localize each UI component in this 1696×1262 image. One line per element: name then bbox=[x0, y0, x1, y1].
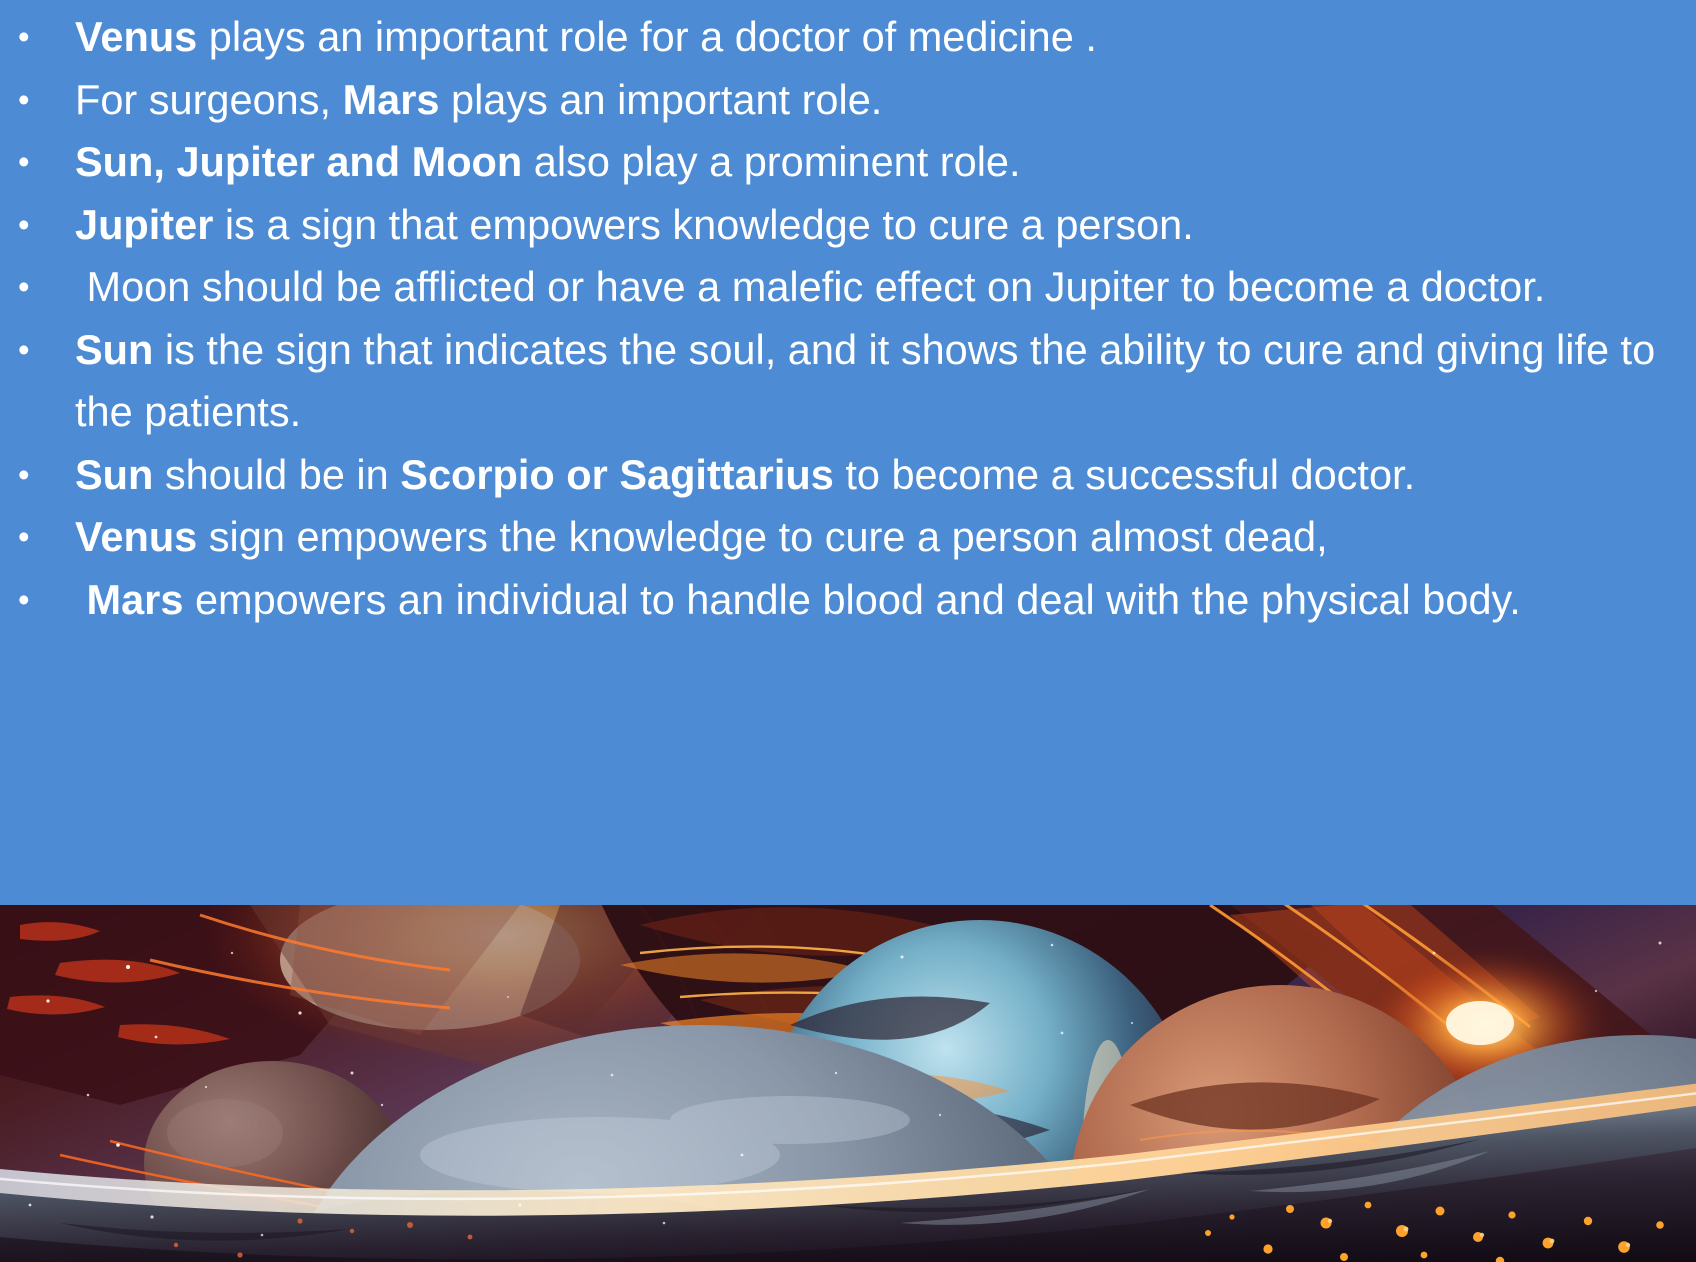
bullet-emphasis: Venus bbox=[75, 513, 197, 560]
list-item: Sun is the sign that indicates the soul,… bbox=[0, 319, 1684, 444]
bullet-emphasis: Sun, Jupiter and Moon bbox=[75, 138, 522, 185]
bullet-text: plays an important role for a doctor of … bbox=[197, 13, 1097, 60]
bullet-emphasis: Jupiter bbox=[75, 201, 213, 248]
list-item: Jupiter is a sign that empowers knowledg… bbox=[0, 194, 1684, 257]
list-item: Mars empowers an individual to handle bl… bbox=[0, 569, 1684, 632]
bullet-text: Moon should be afflicted or have a malef… bbox=[75, 263, 1545, 310]
bullet-emphasis: Mars bbox=[343, 76, 440, 123]
bullet-text: For surgeons, bbox=[75, 76, 343, 123]
bullet-text: should be in bbox=[153, 451, 400, 498]
bullet-emphasis: Venus bbox=[75, 13, 197, 60]
list-item: Moon should be afflicted or have a malef… bbox=[0, 256, 1684, 319]
list-item: Sun, Jupiter and Moon also play a promin… bbox=[0, 131, 1684, 194]
list-item: Venus sign empowers the knowledge to cur… bbox=[0, 506, 1684, 569]
list-item: Sun should be in Scorpio or Sagittarius … bbox=[0, 444, 1684, 507]
bullet-list: Venus plays an important role for a doct… bbox=[0, 6, 1684, 631]
bullet-text bbox=[75, 576, 87, 623]
bullet-text: plays an important role. bbox=[439, 76, 882, 123]
bullet-emphasis: Sun bbox=[75, 451, 153, 498]
bullet-content-area: Venus plays an important role for a doct… bbox=[0, 0, 1696, 905]
bullet-text: also play a prominent role. bbox=[522, 138, 1020, 185]
bullet-emphasis: Mars bbox=[87, 576, 184, 623]
bullet-text: empowers an individual to handle blood a… bbox=[183, 576, 1520, 623]
bullet-emphasis: Sun bbox=[75, 326, 153, 373]
bullet-emphasis: Scorpio or Sagittarius bbox=[400, 451, 834, 498]
bullet-text: to become a successful doctor. bbox=[834, 451, 1415, 498]
bullet-text: is a sign that empowers knowledge to cur… bbox=[213, 201, 1193, 248]
bullet-text: is the sign that indicates the soul, and… bbox=[75, 326, 1655, 436]
bullet-text: sign empowers the knowledge to cure a pe… bbox=[197, 513, 1327, 560]
space-scene-planets-image bbox=[0, 905, 1696, 1262]
slide: Venus plays an important role for a doct… bbox=[0, 0, 1696, 1262]
list-item: Venus plays an important role for a doct… bbox=[0, 6, 1684, 69]
list-item: For surgeons, Mars plays an important ro… bbox=[0, 69, 1684, 132]
